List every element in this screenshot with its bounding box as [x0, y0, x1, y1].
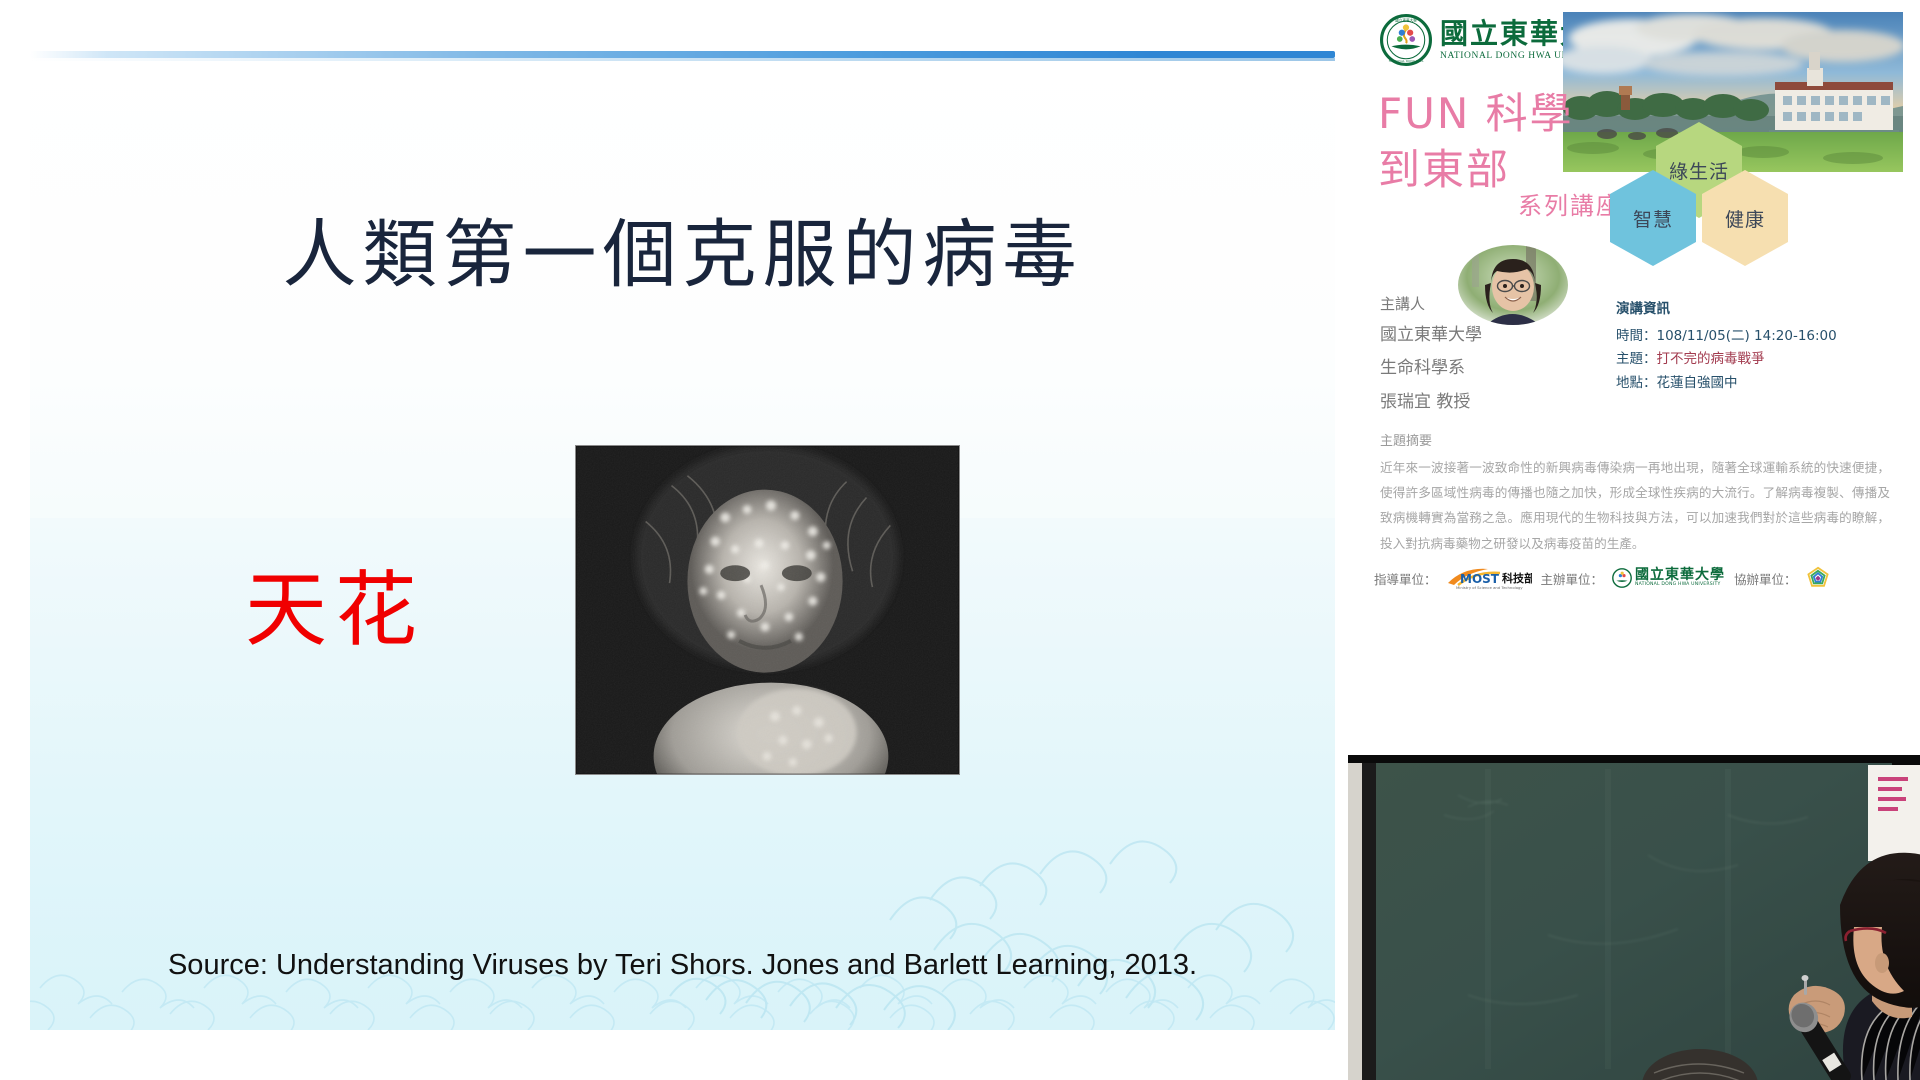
most-logo-icon: MOST 科技部 Ministry of Science and Technol… [1446, 565, 1532, 591]
slide-top-rule [30, 51, 1335, 58]
host-unit-label: 主辦單位： [1541, 569, 1604, 588]
smallpox-patient-photo [575, 445, 960, 775]
talk-info: 演講資訊 時間：108/11/05(二) 14:20-16:00 主題：打不完的… [1616, 298, 1837, 396]
talk-info-heading: 演講資訊 [1616, 298, 1837, 322]
slide-title: 人類第一個克服的病毒 [30, 195, 1335, 302]
university-seal-icon: 國立東華大學 NATIONAL DONG HWA [1380, 14, 1432, 66]
abstract-heading: 主題摘要 [1380, 430, 1432, 449]
slide-source-caption: Source: Understanding Viruses by Teri Sh… [30, 949, 1335, 982]
talk-info-topic-row: 主題：打不完的病毒戰爭 [1616, 348, 1837, 372]
speaker-affiliation: 國立東華大學 [1380, 319, 1482, 352]
hexagon-theme-group: 綠生活 智慧 健康 [1598, 122, 1898, 240]
sponsor-bar: 指導單位： MOST 科技部 Ministry of Science and T… [1374, 565, 1830, 591]
speaker-name: 張瑞宜 教授 [1380, 386, 1482, 419]
svg-text:Ministry of Science and Techno: Ministry of Science and Technology [1456, 585, 1523, 590]
host-logo: 國立東華大學 NATIONAL DONG HWA UNIVERSITY [1612, 568, 1725, 588]
talk-info-topic-prefix: 主題： [1616, 351, 1657, 367]
coorganizer-unit-label: 協辦單位： [1734, 569, 1797, 588]
host-name-en: NATIONAL DONG HWA UNIVERSITY [1635, 583, 1725, 588]
slide-highlight-term: 天花 [245, 543, 425, 662]
speaker-label: 主講人 [1380, 290, 1482, 319]
poster-title-line1: FUN 科學 [1378, 80, 1574, 141]
lecture-video-feed[interactable] [1348, 755, 1920, 1080]
talk-info-time: 時間：108/11/05(二) 14:20-16:00 [1616, 325, 1837, 349]
svg-text:科技部: 科技部 [1502, 571, 1532, 585]
abstract-body: 近年來一波接著一波致命性的新興病毒傳染病一再地出現，隨著全球運輸系統的快速便捷，… [1380, 455, 1890, 556]
host-name-cn: 國立東華大學 [1635, 568, 1725, 583]
event-poster: 國立東華大學 NATIONAL DONG HWA 國立東華大學 NATIONAL… [1348, 0, 1920, 755]
screen-root: 人類第一個克服的病毒 天花 [0, 0, 1920, 1080]
svg-text:國立東華大學: 國立東華大學 [1395, 17, 1417, 22]
talk-info-topic: 打不完的病毒戰爭 [1657, 351, 1765, 367]
svg-text:NATIONAL DONG HWA: NATIONAL DONG HWA [1389, 59, 1425, 63]
coorganizer-logo-icon [1806, 566, 1830, 590]
most-logo: MOST 科技部 Ministry of Science and Technol… [1446, 565, 1532, 591]
guide-unit-label: 指導單位： [1374, 569, 1437, 588]
speaker-department: 生命科學系 [1380, 352, 1482, 385]
speaker-info: 主講人 國立東華大學 生命科學系 張瑞宜 教授 [1380, 290, 1482, 419]
svg-text:MOST: MOST [1460, 572, 1500, 586]
poster-title-line2: 到東部 [1378, 136, 1510, 197]
presentation-slide: 人類第一個克服的病毒 天花 [30, 45, 1335, 1030]
talk-info-venue: 地點：花蓮自強國中 [1616, 372, 1837, 396]
slide-top-rule-secondary [30, 58, 1335, 61]
university-seal-small-icon [1612, 568, 1632, 588]
